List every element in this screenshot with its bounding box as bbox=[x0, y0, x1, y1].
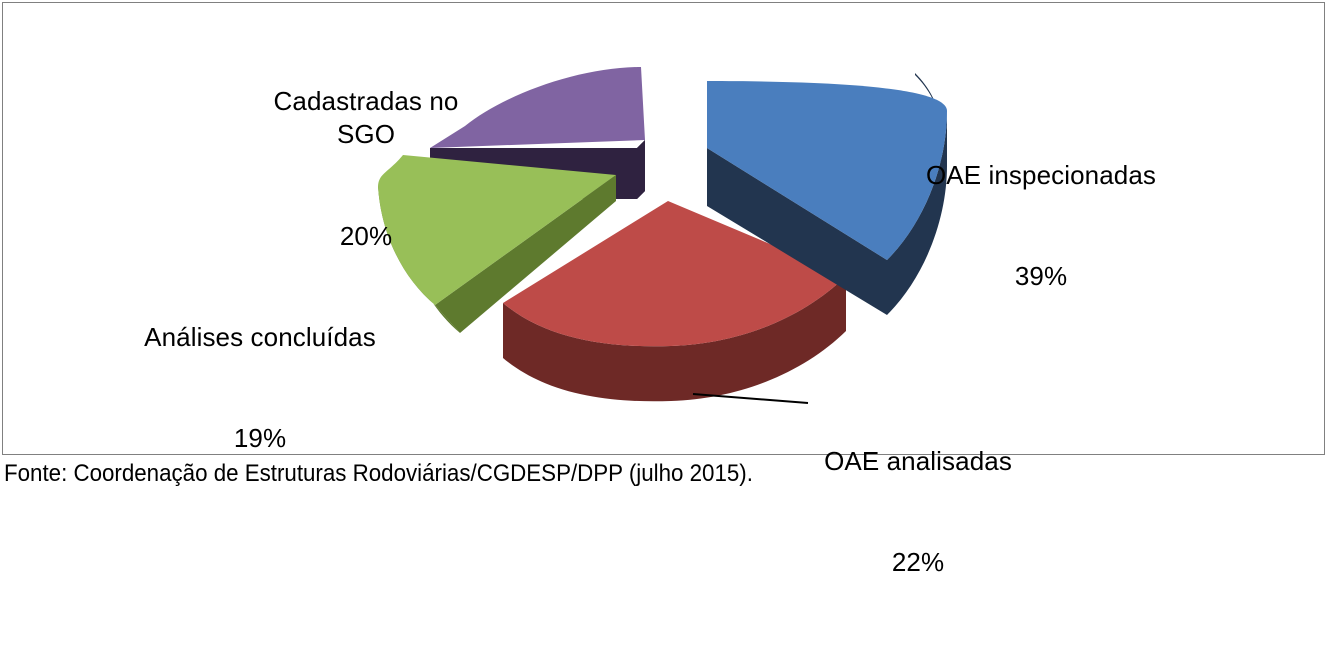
data-label-inspecionadas-name: OAE inspecionadas bbox=[893, 159, 1189, 193]
leader-line-oae-analisadas bbox=[693, 394, 808, 403]
pie-slice-cadastradas-side-right bbox=[637, 140, 645, 199]
chart-frame: Cadastradas no SGO 20% OAE inspecionadas… bbox=[2, 2, 1325, 455]
data-label-oae-analisadas: OAE analisadas 22% bbox=[803, 377, 1033, 647]
data-label-inspecionadas-value: 39% bbox=[893, 260, 1189, 294]
data-label-oae-inspecionadas: OAE inspecionadas 39% bbox=[893, 91, 1189, 361]
source-note: Fonte: Coordenação de Estruturas Rodoviá… bbox=[4, 461, 1120, 488]
data-label-cadastradas-name: Cadastradas no SGO bbox=[251, 85, 481, 153]
data-label-analises-name: Análises concluídas bbox=[115, 321, 405, 355]
data-label-cadastradas-value: 20% bbox=[251, 220, 481, 254]
chart-page: Cadastradas no SGO 20% OAE inspecionadas… bbox=[0, 0, 1339, 496]
data-label-analises-value: 19% bbox=[115, 422, 405, 456]
data-label-analisadas-value: 22% bbox=[803, 546, 1033, 580]
